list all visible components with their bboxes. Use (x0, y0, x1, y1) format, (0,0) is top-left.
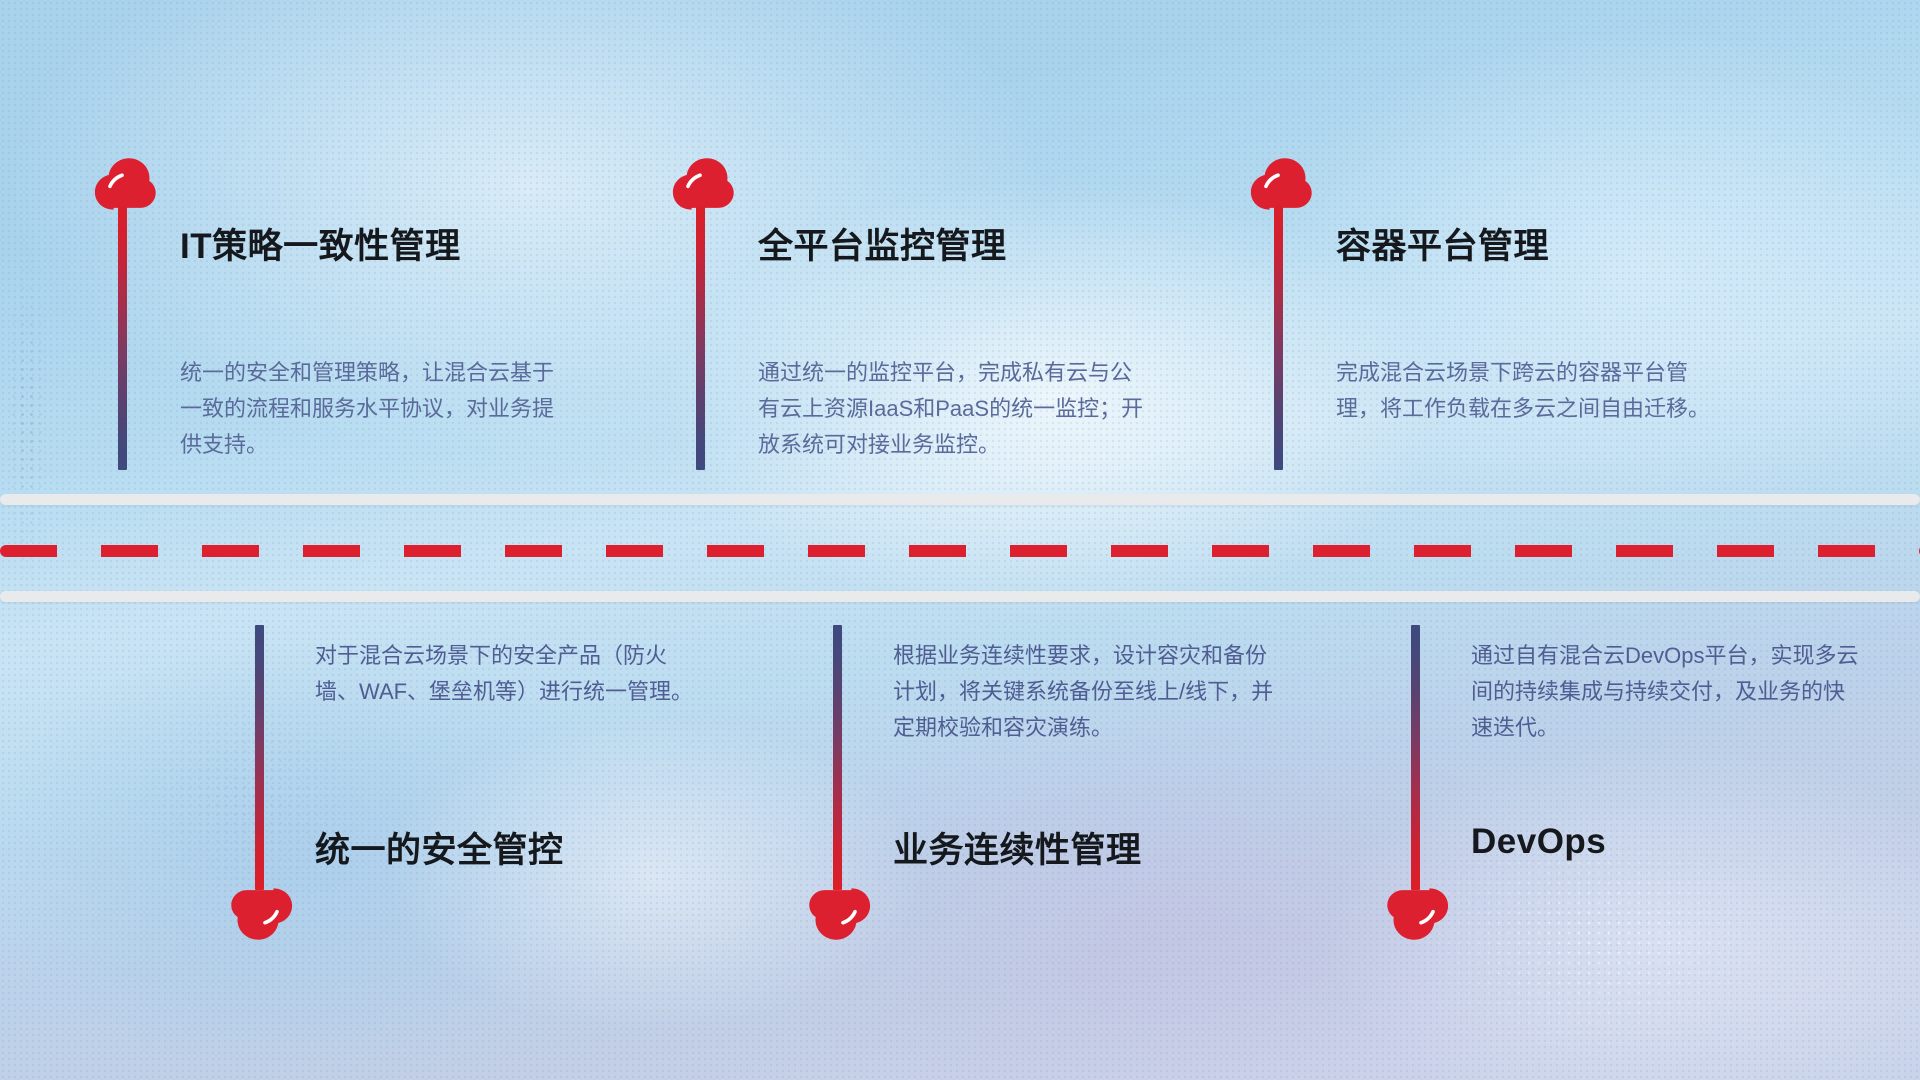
cloud-icon (94, 158, 156, 210)
cloud-icon (809, 888, 871, 940)
cloud-icon (1250, 158, 1312, 210)
item-title: DevOps (1471, 822, 1606, 862)
connector-stem (118, 205, 127, 470)
red-dashed-rule (0, 545, 1920, 557)
item-description: 对于混合云场景下的安全产品（防火墙、WAF、堡垒机等）进行统一管理。 (315, 638, 707, 710)
connector-stem (833, 625, 842, 890)
item-title: 全平台监控管理 (758, 218, 1007, 269)
item-title: 业务连续性管理 (893, 822, 1142, 873)
item-description: 通过自有混合云DevOps平台，实现多云间的持续集成与持续交付，及业务的快速迭代… (1471, 638, 1863, 746)
item-description: 根据业务连续性要求，设计容灾和备份计划，将关键系统备份至线上/线下，并定期校验和… (893, 638, 1285, 746)
item-description: 统一的安全和管理策略，让混合云基于一致的流程和服务水平协议，对业务提供支持。 (180, 355, 572, 463)
connector-stem (255, 625, 264, 890)
item-title: 统一的安全管控 (315, 822, 564, 873)
cloud-icon (231, 888, 293, 940)
white-rule-top (0, 494, 1920, 505)
white-rule-bottom (0, 591, 1920, 602)
connector-stem (1274, 205, 1283, 470)
cloud-icon (672, 158, 734, 210)
item-title: IT策略一致性管理 (180, 218, 461, 269)
connector-stem (696, 205, 705, 470)
cloud-icon (1387, 888, 1449, 940)
infographic-canvas: IT策略一致性管理 统一的安全和管理策略，让混合云基于一致的流程和服务水平协议，… (0, 0, 1920, 1080)
item-description: 通过统一的监控平台，完成私有云与公有云上资源IaaS和PaaS的统一监控；开放系… (758, 355, 1150, 463)
connector-stem (1411, 625, 1420, 890)
item-title: 容器平台管理 (1336, 218, 1549, 269)
item-description: 完成混合云场景下跨云的容器平台管理，将工作负载在多云之间自由迁移。 (1336, 355, 1728, 427)
